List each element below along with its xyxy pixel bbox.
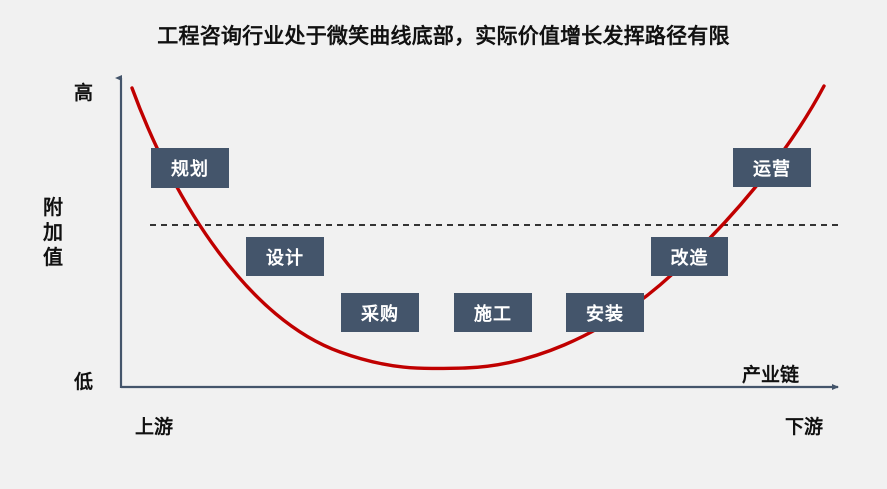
x-axis-left-label: 上游 xyxy=(135,412,173,439)
stage-box[interactable]: 运营 xyxy=(733,148,811,187)
x-axis-right-label: 下游 xyxy=(785,412,823,439)
stage-box[interactable]: 改造 xyxy=(651,237,728,276)
y-axis-low-label: 低 xyxy=(74,367,93,394)
y-axis-title-char-1: 附 xyxy=(40,196,66,221)
smile-curve-chart: 工程咨询行业处于微笑曲线底部，实际价值增长发挥路径有限 高 低 附 加 值 上游… xyxy=(0,0,887,489)
x-axis-title: 产业链 xyxy=(742,360,799,387)
stage-box[interactable]: 安装 xyxy=(566,293,644,332)
stage-box[interactable]: 施工 xyxy=(454,293,532,332)
stage-box[interactable]: 规划 xyxy=(151,148,229,188)
y-axis-title: 附 加 值 xyxy=(40,196,66,271)
chart-plot-area xyxy=(0,0,887,489)
y-axis-high-label: 高 xyxy=(74,78,93,105)
stage-box[interactable]: 设计 xyxy=(246,237,324,276)
y-axis-title-char-2: 加 xyxy=(40,221,66,246)
y-axis-title-char-3: 值 xyxy=(40,246,66,271)
stage-box[interactable]: 采购 xyxy=(341,293,419,332)
